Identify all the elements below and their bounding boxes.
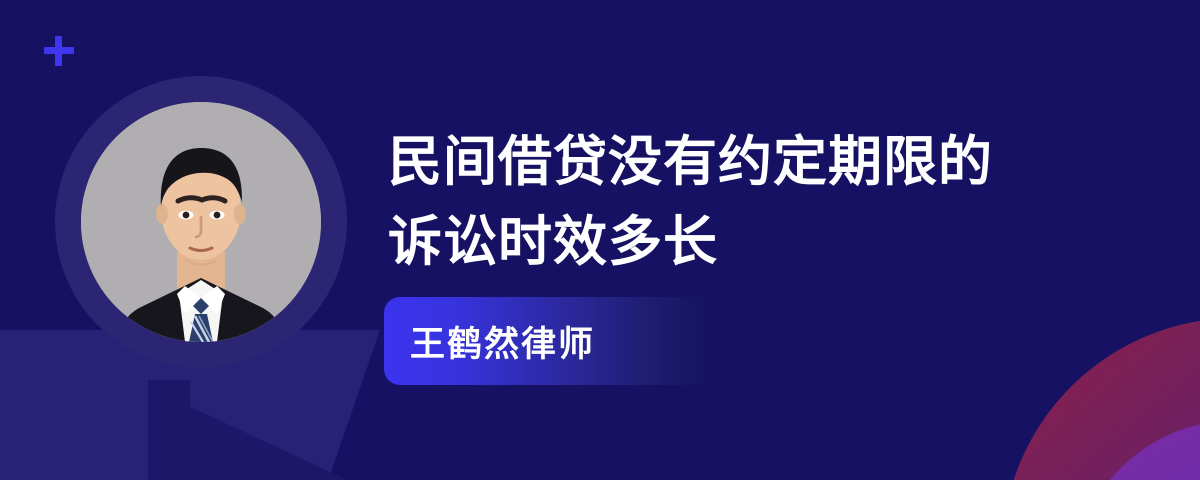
plus-icon [44,36,74,66]
page-title-line-2: 诉讼时效多长 [388,202,1088,282]
lawyer-name-label: 王鹤然律师 [384,316,595,367]
lawyer-topic-banner: 民间借贷没有约定期限的 诉讼时效多长 王鹤然律师 [0,0,1200,480]
page-title-line-1: 民间借贷没有约定期限的 [388,122,1088,202]
banner-content: 民间借贷没有约定期限的 诉讼时效多长 王鹤然律师 [388,0,1168,480]
avatar-portrait-icon [81,102,321,342]
page-title: 民间借贷没有约定期限的 诉讼时效多长 [388,122,1088,282]
avatar [55,76,347,368]
lawyer-name-badge[interactable]: 王鹤然律师 [384,297,714,385]
